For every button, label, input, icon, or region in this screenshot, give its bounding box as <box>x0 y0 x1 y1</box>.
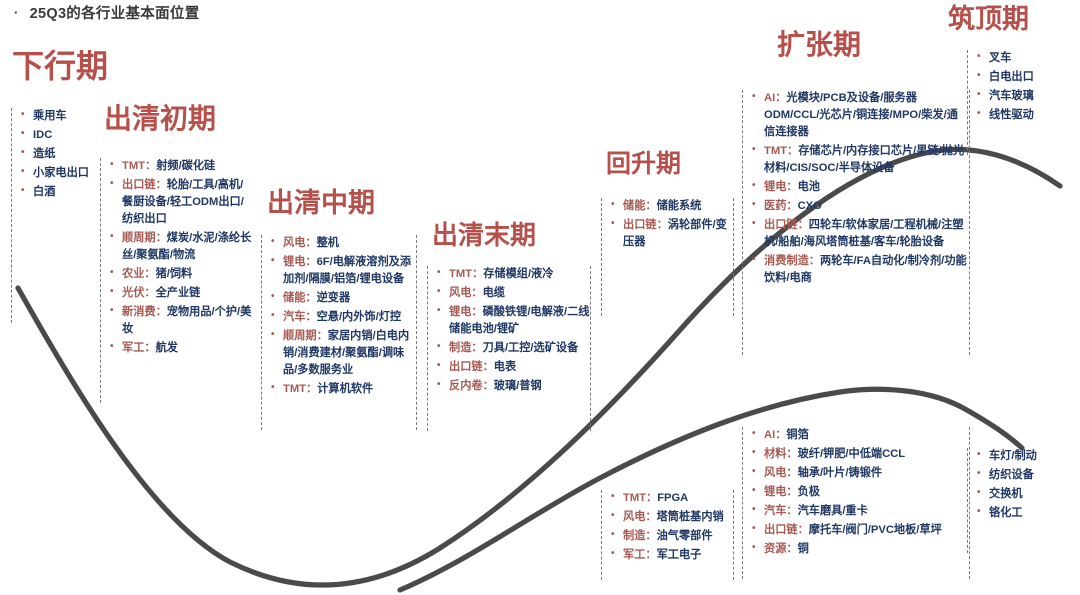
block-clearing-mid: 风电：整机锂电：6F/电解液溶剂及添加剂/隔膜/铝箔/锂电设备储能：逆变器汽车：… <box>261 235 417 430</box>
item-category: 军工： <box>623 549 657 561</box>
item-value: 航发 <box>156 342 178 354</box>
list-item: 出口链：涡轮部件/变压器 <box>608 217 733 251</box>
list-item: 纺织设备 <box>974 467 1072 484</box>
list-item: 反内卷：玻璃/普钢 <box>434 378 590 395</box>
title-bullet-icon: · <box>14 6 19 19</box>
heading-clearing-mid: 出清中期 <box>267 190 375 217</box>
item-value: 电池 <box>798 181 820 193</box>
item-value: 射频/碳化硅 <box>156 160 215 172</box>
list-item: 军工：航发 <box>107 340 252 357</box>
list-item: 光伏：全产业链 <box>107 285 252 302</box>
item-value: 玻纤/钾肥/中低端CCL <box>798 448 906 460</box>
item-category: TMT： <box>623 492 657 504</box>
item-category: 顺周期： <box>283 330 328 342</box>
list-item: 白电出口 <box>974 69 1072 86</box>
item-category: 锂电： <box>764 486 798 498</box>
list-item: 储能：逆变器 <box>268 290 416 307</box>
item-value: 光模块/PCB及设备/服务器ODM/CCL/光芯片/铜连接/MPO/柴发/通信连… <box>764 92 958 138</box>
list-item: 新消费：宠物用品/个护/美妆 <box>107 304 252 338</box>
list-item: 叉车 <box>974 50 1072 67</box>
item-category: 锂电： <box>283 256 317 268</box>
item-value: 汽车玻璃 <box>989 90 1034 102</box>
item-category: 出口链： <box>449 361 494 373</box>
item-value: 交换机 <box>989 488 1023 500</box>
item-value: 轴承/叶片/铸锻件 <box>798 467 883 479</box>
block-lower-peaking: 车灯/制动纺织设备交换机铬化工 <box>967 448 1072 553</box>
list-clearing-mid: 风电：整机锂电：6F/电解液溶剂及添加剂/隔膜/铝箔/锂电设备储能：逆变器汽车：… <box>268 235 416 398</box>
item-category: 新消费： <box>122 306 167 318</box>
item-category: AI： <box>764 429 786 441</box>
list-item: TMT：射频/碳化硅 <box>107 158 252 175</box>
list-item: 出口链：摩托车/阀门/PVC地板/草坪 <box>749 522 969 539</box>
list-item: TMT：存储模组/液冷 <box>434 266 590 283</box>
page-title: · 25Q3的各行业基本面位置 <box>14 2 200 23</box>
list-item: 制造：油气零部件 <box>608 528 733 545</box>
list-item: 造纸 <box>18 146 99 163</box>
item-value: 电表 <box>494 361 516 373</box>
list-clearing-early: TMT：射频/碳化硅出口链：轮胎/工具/高机/餐厨设备/轻工ODM出口/纺织出口… <box>107 158 252 357</box>
item-category: TMT： <box>449 268 483 280</box>
list-recovery: 储能：储能系统出口链：涡轮部件/变压器 <box>608 198 733 251</box>
item-value: 线性驱动 <box>989 109 1034 121</box>
item-value: 电缆 <box>483 287 505 299</box>
heading-recovery: 回升期 <box>606 152 681 177</box>
list-item: AI：光模块/PCB及设备/服务器ODM/CCL/光芯片/铜连接/MPO/柴发/… <box>749 90 969 141</box>
list-item: 材料：玻纤/钾肥/中低端CCL <box>749 446 969 463</box>
list-item: 顺周期：家居内销/白电内销/消费建材/聚氨酯/调味品/多数服务业 <box>268 328 416 379</box>
item-category: TMT： <box>122 160 156 172</box>
item-value: 油气零部件 <box>657 530 713 542</box>
item-category: 汽车： <box>283 311 317 323</box>
list-item: 出口链：四轮车/软体家居/工程机械/注塑机/船舶/海风塔筒桩基/客车/轮胎设备 <box>749 217 969 251</box>
item-category: 出口链： <box>764 219 809 231</box>
item-value: IDC <box>33 129 52 141</box>
item-value: 汽车磨具/重卡 <box>798 505 868 517</box>
list-item: 风电：塔筒桩基内销 <box>608 509 733 526</box>
list-clearing-late: TMT：存储模组/液冷风电：电缆锂电：磷酸铁锂/电解液/二线储能电池/锂矿制造：… <box>434 266 590 395</box>
item-category: 风电： <box>449 287 483 299</box>
item-value: 摩托车/阀门/PVC地板/草坪 <box>809 524 942 536</box>
list-item: 白酒 <box>18 184 99 201</box>
item-value: 白酒 <box>33 186 55 198</box>
list-item: 乘用车 <box>18 108 99 125</box>
list-item: 储能：储能系统 <box>608 198 733 215</box>
list-item: 线性驱动 <box>974 107 1072 124</box>
item-category: 消费制造： <box>764 255 820 267</box>
block-lower-recovery: TMT：FPGA风电：塔筒桩基内销制造：油气零部件军工：军工电子 <box>601 490 734 580</box>
list-item: TMT：FPGA <box>608 490 733 507</box>
item-value: 玻璃/普钢 <box>494 380 542 392</box>
item-category: 汽车： <box>764 505 798 517</box>
page-title-text: 25Q3的各行业基本面位置 <box>30 2 200 23</box>
list-item: 锂电：磷酸铁锂/电解液/二线储能电池/锂矿 <box>434 304 590 338</box>
list-item: TMT：存储芯片/内存接口芯片/果链/抛光材料/CIS/SOC/半导体设备 <box>749 143 969 177</box>
item-category: 锂电： <box>449 306 483 318</box>
item-value: 刀具/工控/选矿设备 <box>483 342 579 354</box>
block-clearing-early: TMT：射频/碳化硅出口链：轮胎/工具/高机/餐厨设备/轻工ODM出口/纺织出口… <box>100 158 252 403</box>
item-value: 车灯/制动 <box>989 450 1037 462</box>
heading-downturn: 下行期 <box>12 50 108 82</box>
item-category: 材料： <box>764 448 798 460</box>
block-expansion: AI：光模块/PCB及设备/服务器ODM/CCL/光芯片/铜连接/MPO/柴发/… <box>742 90 970 355</box>
item-category: 光伏： <box>122 287 156 299</box>
item-value: CXO <box>798 200 822 212</box>
list-item: 风电：整机 <box>268 235 416 252</box>
item-value: 储能系统 <box>657 200 702 212</box>
item-value: 铬化工 <box>989 507 1023 519</box>
item-category: 资源： <box>764 543 798 555</box>
list-item: 汽车：空悬/内外饰/灯控 <box>268 309 416 326</box>
item-category: 锂电： <box>764 181 798 193</box>
item-category: 储能： <box>283 292 317 304</box>
item-value: 猪/饲料 <box>156 268 193 280</box>
list-item: 农业：猪/饲料 <box>107 266 252 283</box>
item-category: 反内卷： <box>449 380 494 392</box>
list-item: 风电：电缆 <box>434 285 590 302</box>
item-value: 乘用车 <box>33 110 67 122</box>
item-category: 储能： <box>623 200 657 212</box>
heading-clearing-early: 出清初期 <box>104 105 216 133</box>
list-item: 军工：军工电子 <box>608 547 733 564</box>
list-item: 顺周期：煤炭/水泥/涤纶长丝/聚氨酯/物流 <box>107 230 252 264</box>
list-lower-recovery: TMT：FPGA风电：塔筒桩基内销制造：油气零部件军工：军工电子 <box>608 490 733 564</box>
item-value: 叉车 <box>989 52 1011 64</box>
item-value: 存储模组/液冷 <box>483 268 553 280</box>
item-category: 医药： <box>764 200 798 212</box>
list-lower-expansion: AI：铜箔材料：玻纤/钾肥/中低端CCL风电：轴承/叶片/铸锻件锂电：负极汽车：… <box>749 427 969 558</box>
list-item: 汽车玻璃 <box>974 88 1072 105</box>
item-value: 军工电子 <box>657 549 702 561</box>
block-recovery: 储能：储能系统出口链：涡轮部件/变压器 <box>601 198 734 316</box>
item-category: 农业： <box>122 268 156 280</box>
item-value: 造纸 <box>33 148 55 160</box>
item-category: 制造： <box>449 342 483 354</box>
item-category: 风电： <box>623 511 657 523</box>
block-downturn: 乘用车IDC造纸小家电出口白酒 <box>11 108 99 323</box>
list-item: 锂电：负极 <box>749 484 969 501</box>
item-value: 小家电出口 <box>33 167 89 179</box>
item-value: 纺织设备 <box>989 469 1034 481</box>
list-item: 制造：刀具/工控/选矿设备 <box>434 340 590 357</box>
item-value: FPGA <box>657 492 688 504</box>
list-lower-peaking: 车灯/制动纺织设备交换机铬化工 <box>974 448 1072 522</box>
heading-expansion: 扩张期 <box>777 31 861 59</box>
item-category: 出口链： <box>623 219 668 231</box>
list-item: 小家电出口 <box>18 165 99 182</box>
list-item: 出口链：轮胎/工具/高机/餐厨设备/轻工ODM出口/纺织出口 <box>107 177 252 228</box>
heading-peaking: 筑顶期 <box>948 6 1029 33</box>
list-item: 汽车：汽车磨具/重卡 <box>749 503 969 520</box>
item-category: 出口链： <box>764 524 809 536</box>
item-category: 军工： <box>122 342 156 354</box>
list-item: 风电：轴承/叶片/铸锻件 <box>749 465 969 482</box>
item-value: 铜 <box>798 543 809 555</box>
item-value: 逆变器 <box>317 292 351 304</box>
item-category: 顺周期： <box>122 232 167 244</box>
item-category: 风电： <box>764 467 798 479</box>
list-item: IDC <box>18 127 99 144</box>
item-category: TMT： <box>764 145 798 157</box>
item-value: 负极 <box>798 486 820 498</box>
block-clearing-late: TMT：存储模组/液冷风电：电缆锂电：磷酸铁锂/电解液/二线储能电池/锂矿制造：… <box>427 266 591 431</box>
item-value: 塔筒桩基内销 <box>657 511 724 523</box>
list-item: 车灯/制动 <box>974 448 1072 465</box>
list-item: 锂电：电池 <box>749 179 969 196</box>
list-item: 出口链：电表 <box>434 359 590 376</box>
list-item: 消费制造：两轮车/FA自动化/制冷剂/功能饮料/电商 <box>749 253 969 287</box>
list-downturn: 乘用车IDC造纸小家电出口白酒 <box>18 108 99 201</box>
item-category: 出口链： <box>122 179 167 191</box>
item-category: 制造： <box>623 530 657 542</box>
list-item: AI：铜箔 <box>749 427 969 444</box>
item-value: 计算机软件 <box>317 383 373 395</box>
item-value: 全产业链 <box>156 287 201 299</box>
item-category: 风电： <box>283 237 317 249</box>
list-item: 交换机 <box>974 486 1072 503</box>
list-item: 医药：CXO <box>749 198 969 215</box>
list-peaking: 叉车白电出口汽车玻璃线性驱动 <box>974 50 1072 124</box>
list-item: 锂电：6F/电解液溶剂及添加剂/隔膜/铝箔/锂电设备 <box>268 254 416 288</box>
list-item: 铬化工 <box>974 505 1072 522</box>
heading-clearing-late: 出清末期 <box>432 222 536 248</box>
item-value: 整机 <box>317 237 339 249</box>
block-lower-expansion: AI：铜箔材料：玻纤/钾肥/中低端CCL风电：轴承/叶片/铸锻件锂电：负极汽车：… <box>742 427 970 579</box>
list-expansion: AI：光模块/PCB及设备/服务器ODM/CCL/光芯片/铜连接/MPO/柴发/… <box>749 90 969 287</box>
block-peaking: 叉车白电出口汽车玻璃线性驱动 <box>967 50 1072 155</box>
item-category: AI： <box>764 92 786 104</box>
item-value: 铜箔 <box>786 429 808 441</box>
list-item: 资源：铜 <box>749 541 969 558</box>
item-category: TMT： <box>283 383 317 395</box>
item-value: 空悬/内外饰/灯控 <box>317 311 402 323</box>
list-item: TMT：计算机软件 <box>268 381 416 398</box>
item-value: 白电出口 <box>989 71 1034 83</box>
